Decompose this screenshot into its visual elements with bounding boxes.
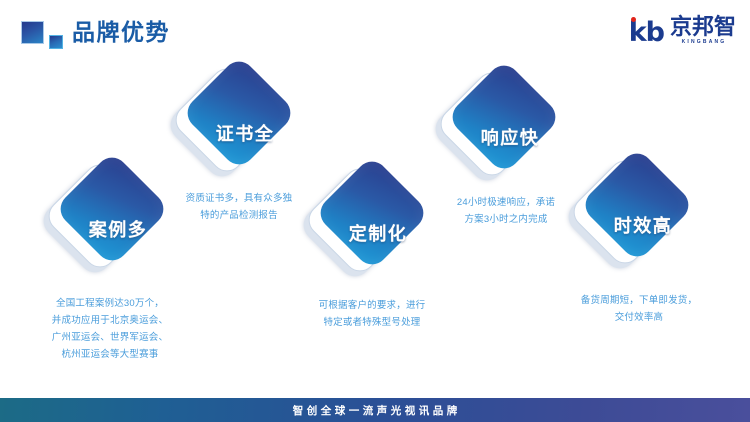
footer-bar: 智创全球一流声光视讯品牌	[0, 398, 750, 422]
logo-dot-icon	[631, 17, 636, 22]
square-marker-large-icon	[21, 21, 44, 44]
logo-brand-cn: 京邦智	[670, 15, 736, 38]
page-title: 品牌优势	[72, 17, 170, 47]
advantage-diamond-2[interactable]: 证书全	[181, 72, 297, 188]
caption-line: 资质证书多，具有众多独	[145, 190, 333, 207]
caption-line: 交付效率高	[542, 309, 736, 326]
logo-monogram: kb	[629, 19, 664, 46]
advantage-caption-1: 全国工程案例达30万个， 并成功应用于北京奥运会、 广州亚运会、世界军运会、 杭…	[10, 295, 210, 363]
advantage-diamond-4[interactable]: 响应快	[446, 76, 562, 192]
square-marker-small-icon	[49, 35, 63, 49]
advantage-caption-5: 备货周期短，下单即发货， 交付效率高	[542, 292, 736, 326]
advantage-caption-3: 可根据客户的要求，进行 特定或者特殊型号处理	[278, 297, 466, 331]
caption-line: 特定或者特殊型号处理	[278, 314, 466, 331]
caption-line: 备货周期短，下单即发货，	[542, 292, 736, 309]
advantage-diamond-1[interactable]: 案例多	[54, 168, 170, 284]
caption-line: 杭州亚运会等大型赛事	[10, 346, 210, 363]
logo-wordmark: 京邦智 KINGBANG	[670, 15, 736, 46]
caption-line: 广州亚运会、世界军运会、	[10, 329, 210, 346]
logo-mark-icon: kb	[629, 16, 664, 46]
title-marker-group	[21, 21, 69, 51]
footer-slogan: 智创全球一流声光视讯品牌	[289, 403, 461, 418]
logo-brand-pinyin: KINGBANG	[680, 39, 727, 46]
advantage-diamond-5[interactable]: 时效高	[579, 164, 695, 280]
brand-logo: kb 京邦智 KINGBANG	[629, 14, 736, 46]
advantage-diamond-3[interactable]: 定制化	[314, 172, 430, 288]
caption-line: 可根据客户的要求，进行	[278, 297, 466, 314]
slide-canvas: 品牌优势 kb 京邦智 KINGBANG 案例多 全国工程案例达30万个， 并成…	[0, 0, 750, 422]
caption-line: 全国工程案例达30万个，	[10, 295, 210, 312]
caption-line: 并成功应用于北京奥运会、	[10, 312, 210, 329]
